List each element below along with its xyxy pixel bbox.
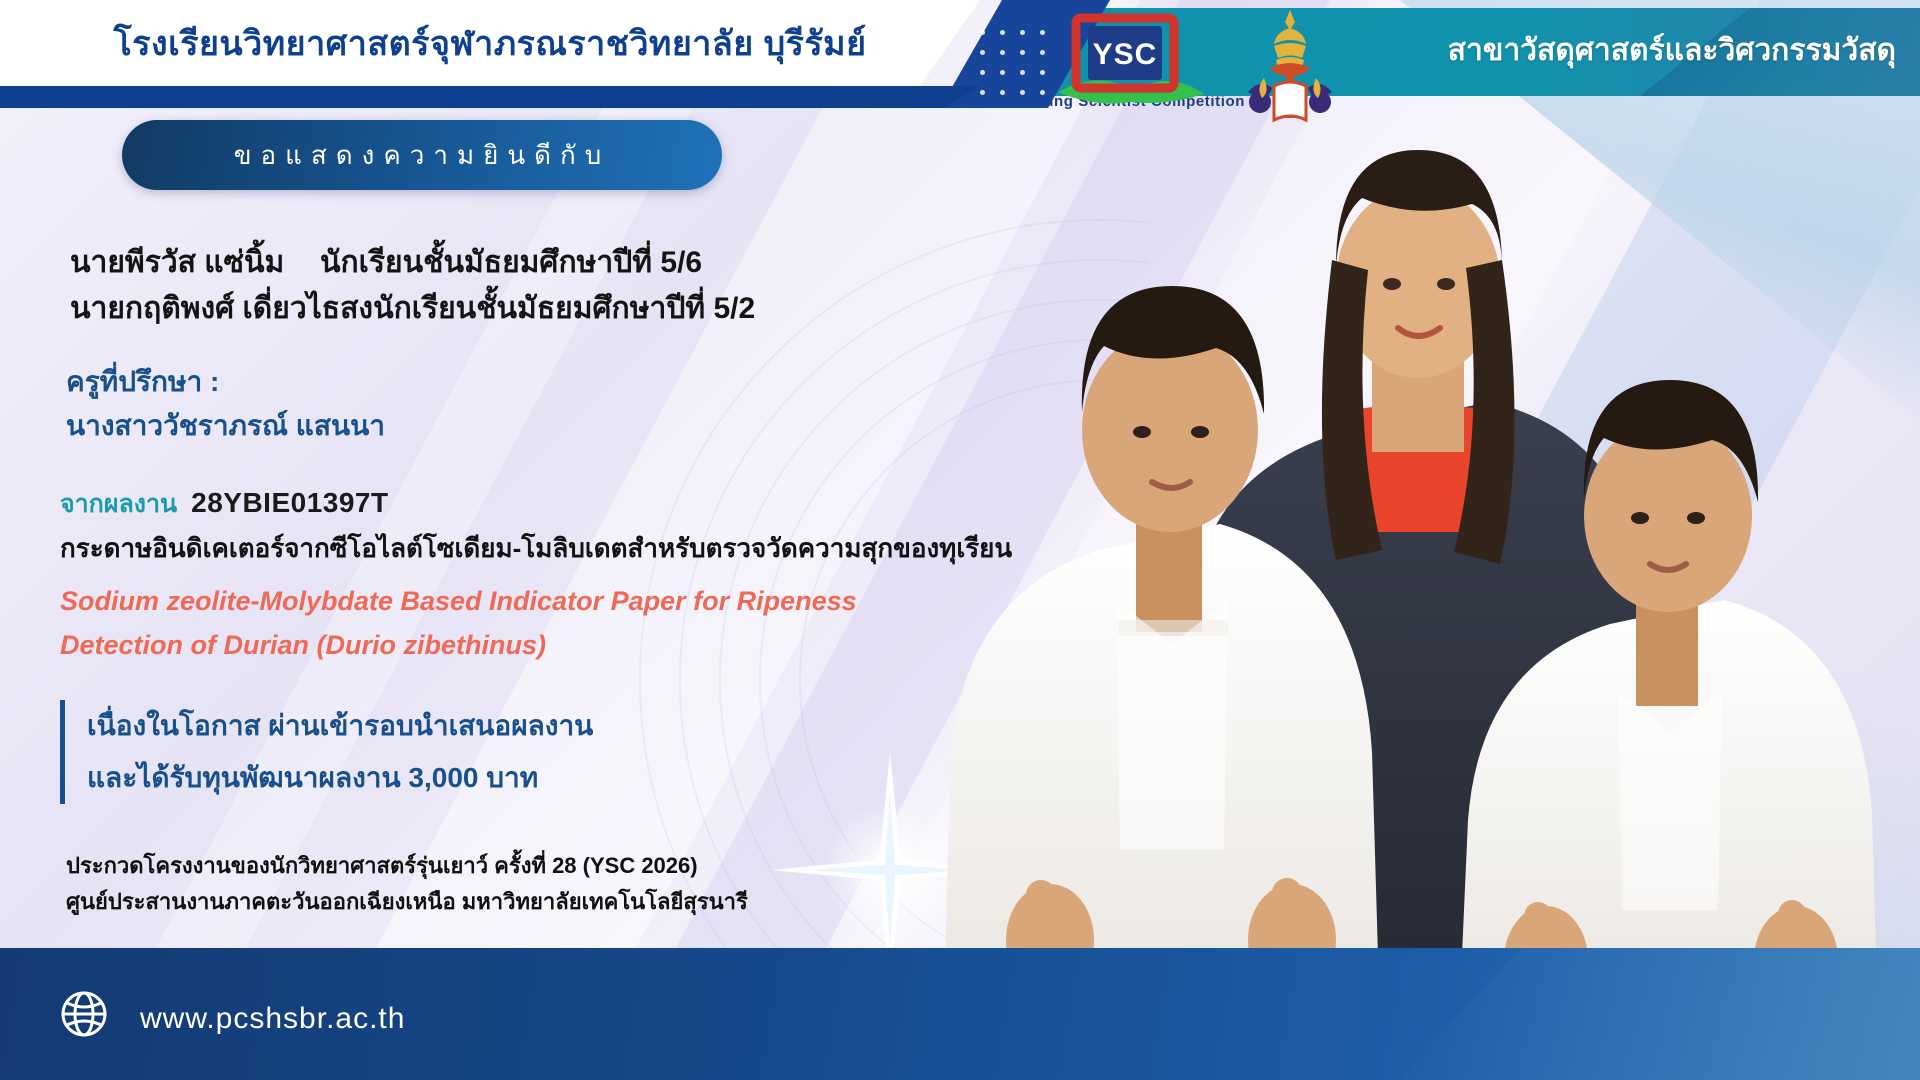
student-class: นักเรียนชั้นมัธยมศึกษาปีที่ 5/6 <box>320 240 702 286</box>
project-code-row: จากผลงาน 28YBIE01397T <box>60 482 1012 525</box>
poster-content: นายพีรวัส แซ่นิ้ม นักเรียนชั้นมัธยมศึกษา… <box>0 0 1920 1080</box>
student-name: นายกฤติพงศ์ เดี่ยวไธสง <box>70 286 373 332</box>
svg-text:YSC: YSC <box>1093 38 1158 71</box>
event-block: ประกวดโครงงานของนักวิทยาศาสตร์รุ่นเยาว์ … <box>66 848 748 920</box>
student-list: นายพีรวัส แซ่นิ้ม นักเรียนชั้นมัธยมศึกษา… <box>70 240 755 332</box>
advisor-name: นางสาววัชราภรณ์ แสนนา <box>66 404 385 448</box>
project-title-english-line1: Sodium zeolite-Molybdate Based Indicator… <box>60 579 1012 623</box>
advisor-block: ครูที่ปรึกษา : นางสาววัชราภรณ์ แสนนา <box>66 360 385 448</box>
sut-emblem-icon <box>1230 6 1350 124</box>
project-title-english-line2: Detection of Durian (Durio zibethinus) <box>60 623 1012 667</box>
project-title-thai: กระดาษอินดิเคเตอร์จากซีโอไลต์โซเดียม-โมล… <box>60 527 1012 569</box>
poster-canvas: โรงเรียนวิทยาศาสตร์จุฬาภรณราชวิทยาลัย บุ… <box>0 0 1920 1080</box>
student-row: นายพีรวัส แซ่นิ้ม นักเรียนชั้นมัธยมศึกษา… <box>70 240 755 286</box>
advisor-label: ครูที่ปรึกษา : <box>66 360 385 404</box>
occasion-line-1: เนื่องในโอกาส ผ่านเข้ารอบนำเสนอผลงาน <box>87 700 593 752</box>
project-code: 28YBIE01397T <box>191 482 388 524</box>
student-name: นายพีรวัส แซ่นิ้ม <box>70 240 320 286</box>
event-line-1: ประกวดโครงงานของนักวิทยาศาสตร์รุ่นเยาว์ … <box>66 848 748 884</box>
student-row: นายกฤติพงศ์ เดี่ยวไธสง นักเรียนชั้นมัธยม… <box>70 286 755 332</box>
project-code-label: จากผลงาน <box>60 483 177 525</box>
occasion-line-2: และได้รับทุนพัฒนาผลงาน 3,000 บาท <box>87 752 593 804</box>
occasion-block: เนื่องในโอกาส ผ่านเข้ารอบนำเสนอผลงาน และ… <box>60 700 593 804</box>
event-line-2: ศูนย์ประสานงานภาคตะวันออกเฉียงเหนือ มหาว… <box>66 884 748 920</box>
student-class: นักเรียนชั้นมัธยมศึกษาปีที่ 5/2 <box>373 286 755 332</box>
project-block: จากผลงาน 28YBIE01397T กระดาษอินดิเคเตอร์… <box>60 482 1012 667</box>
ysc-logo-icon: YSC <box>1040 8 1220 108</box>
